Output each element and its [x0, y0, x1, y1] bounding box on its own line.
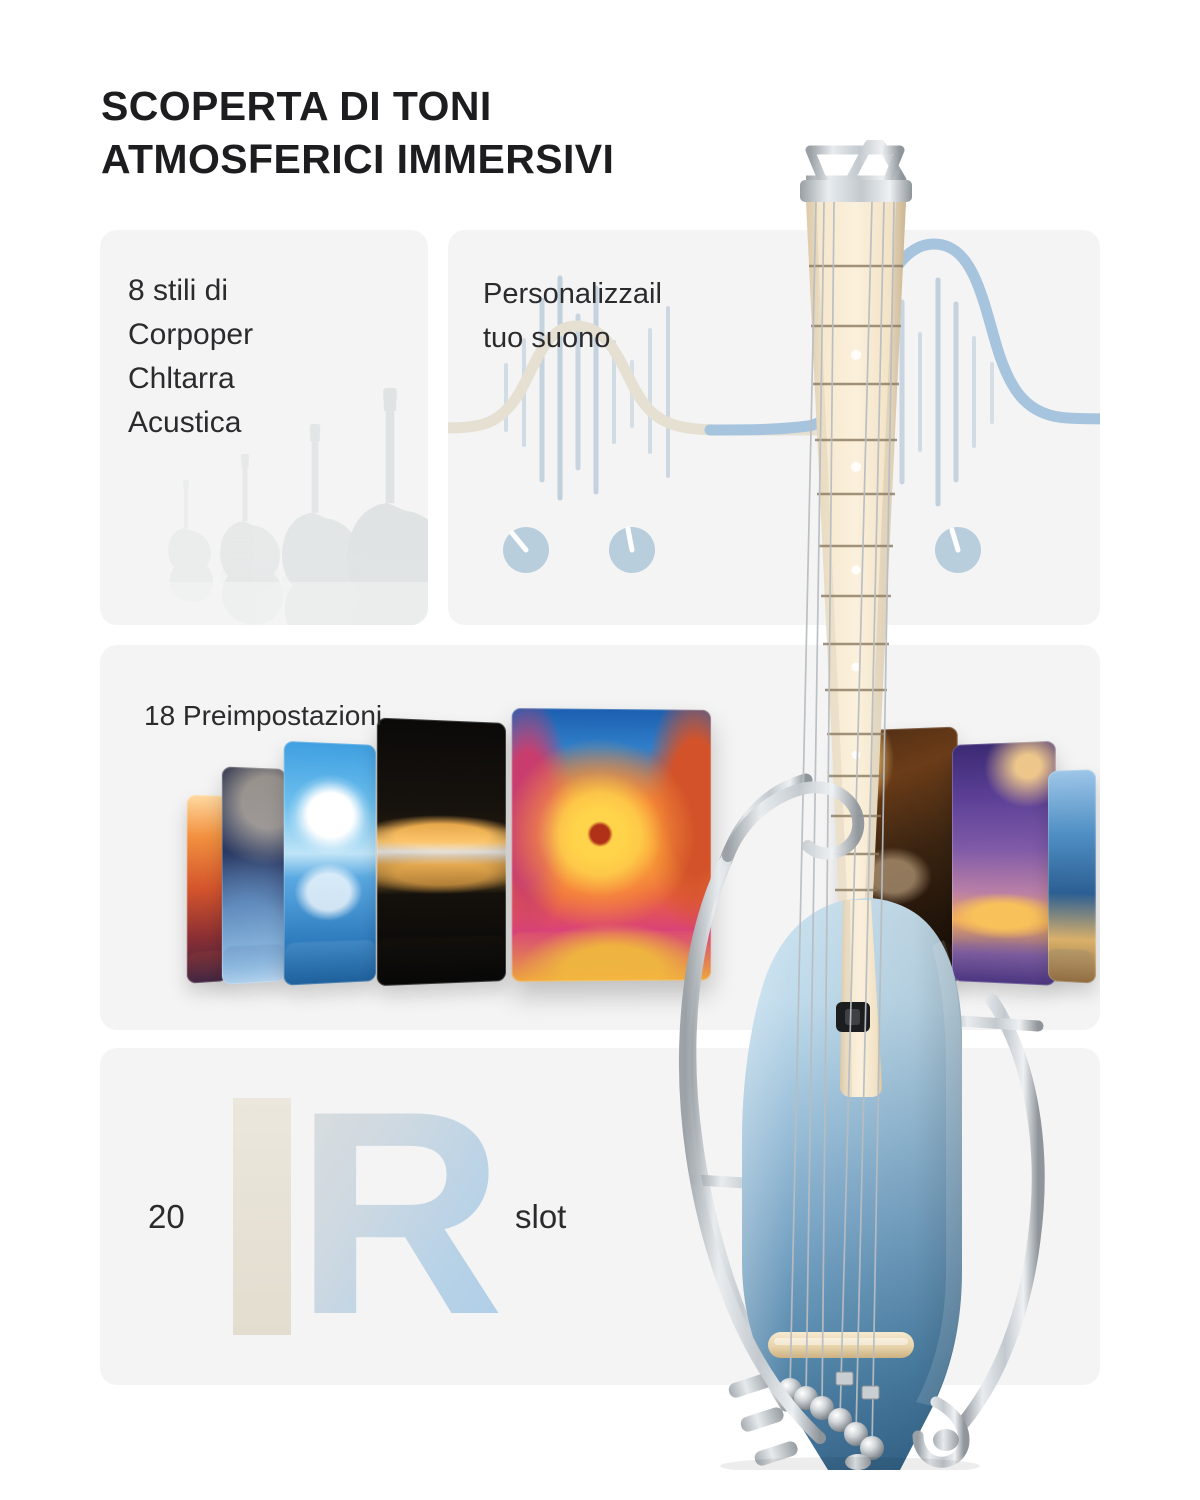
preset-tile-reflection [285, 939, 376, 1013]
card-ir-slots: 20 R slot [100, 1048, 1100, 1385]
ir-letter-i [233, 1098, 291, 1335]
card-custom-title: Personalizzail tuo suono [483, 272, 662, 360]
page-title: SCOPERTA DI TONI ATMOSFERICI IMMERSIVI [101, 80, 861, 186]
ir-count: 20 [148, 1198, 185, 1236]
card-styles-title: 8 stili di Corpoper Chltarra Acustica [128, 269, 253, 445]
card-guitar-styles: 8 stili di Corpoper Chltarra Acustica [100, 230, 428, 625]
ir-letter-r: R [295, 1068, 498, 1358]
preset-tile-reflection [223, 944, 286, 1014]
knob-icons [503, 527, 981, 573]
card-customize-sound: Personalizzail tuo suono [448, 230, 1100, 625]
preset-tile-reflection [1047, 948, 1094, 1013]
card-presets-title: 18 Preimpostazioni [144, 700, 382, 732]
preset-tile-reflection [839, 940, 955, 1014]
preset-tile-reflection [377, 935, 504, 1014]
preset-tile-reflection [512, 931, 711, 1012]
ir-slot-label: slot [515, 1198, 566, 1236]
card-presets: 18 Preimpostazioni [100, 645, 1100, 1030]
preset-tile-reflection [950, 941, 1052, 1014]
preset-carousel [100, 705, 1100, 1005]
